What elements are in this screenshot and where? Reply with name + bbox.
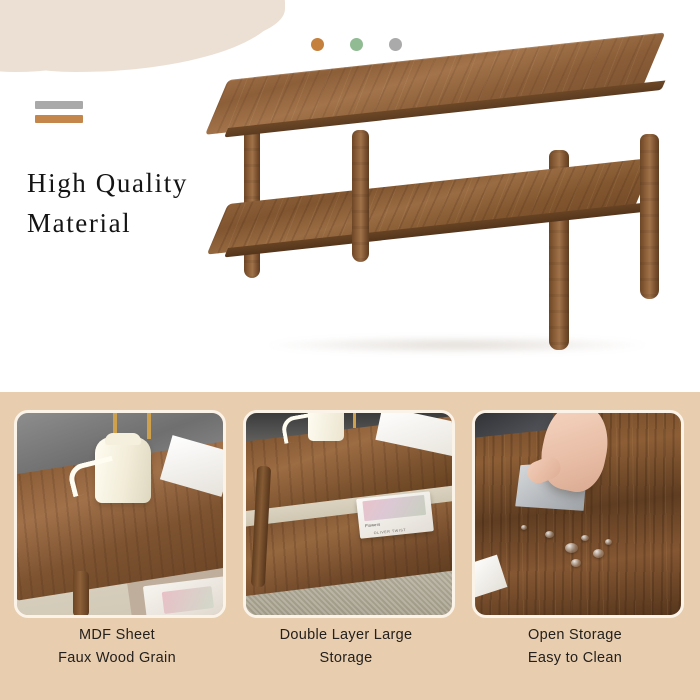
water-droplet bbox=[581, 535, 589, 541]
product-infographic: High Quality Material bbox=[0, 0, 700, 700]
coffee-table-illustration bbox=[222, 78, 700, 378]
photo-mdf-sheet-scene bbox=[17, 413, 223, 615]
table-leg-front-left bbox=[352, 130, 369, 262]
magazine bbox=[143, 576, 223, 615]
caption-open-storage: Open Storage Easy to Clean bbox=[472, 624, 678, 670]
dot-orange bbox=[311, 38, 324, 51]
table-leg-front-right bbox=[640, 134, 659, 299]
water-droplet bbox=[605, 539, 612, 545]
book-on-shelf: Flowers OLIVER TWIST bbox=[356, 491, 434, 539]
caption-mdf-sheet: MDF Sheet Faux Wood Grain bbox=[14, 624, 220, 670]
table-lower-shelf bbox=[207, 158, 656, 255]
hero-section: High Quality Material bbox=[0, 0, 700, 392]
book-subtitle: OLIVER TWIST bbox=[374, 528, 407, 535]
headline-line-1: High Quality bbox=[27, 168, 188, 198]
photo-mdf-sheet bbox=[14, 410, 226, 618]
water-droplet bbox=[521, 525, 527, 530]
water-droplet bbox=[545, 531, 554, 538]
feature-caption-row: MDF Sheet Faux Wood Grain Double Layer L… bbox=[0, 624, 700, 688]
accent-bar-gray bbox=[35, 101, 83, 109]
caption-line-2: Easy to Clean bbox=[472, 647, 678, 670]
photo-double-layer-storage: Flowers OLIVER TWIST bbox=[243, 410, 455, 618]
dot-indicator-group bbox=[311, 38, 431, 52]
caption-double-layer-storage: Double Layer Large Storage bbox=[243, 624, 449, 670]
table-ground-shadow bbox=[262, 336, 652, 354]
photo-open-storage-easy-clean bbox=[472, 410, 684, 618]
book-title: Flowers bbox=[365, 522, 381, 529]
accent-bars bbox=[35, 101, 83, 123]
caption-line-1: MDF Sheet bbox=[14, 624, 220, 647]
caption-line-1: Double Layer Large bbox=[243, 624, 449, 647]
dot-gray bbox=[389, 38, 402, 51]
book-cover-art bbox=[362, 495, 426, 521]
dot-green bbox=[350, 38, 363, 51]
photo-double-layer-scene: Flowers OLIVER TWIST bbox=[246, 413, 452, 615]
accent-bar-tan bbox=[35, 115, 83, 123]
feature-strip: Flowers OLIVER TWIST bbox=[0, 392, 700, 700]
photo-easy-clean-scene bbox=[475, 413, 681, 615]
table-top-surface bbox=[205, 32, 665, 134]
caption-line-2: Storage bbox=[243, 647, 449, 670]
table-leg bbox=[73, 571, 89, 615]
watering-can-lid bbox=[105, 433, 141, 445]
water-droplet bbox=[571, 559, 581, 567]
caption-line-2: Faux Wood Grain bbox=[14, 647, 220, 670]
water-droplet bbox=[565, 543, 578, 553]
watering-can bbox=[308, 413, 344, 441]
water-droplet bbox=[593, 549, 604, 558]
caption-line-1: Open Storage bbox=[472, 624, 678, 647]
feature-photo-row: Flowers OLIVER TWIST bbox=[0, 410, 700, 612]
product-image-coffee-table bbox=[222, 78, 700, 378]
